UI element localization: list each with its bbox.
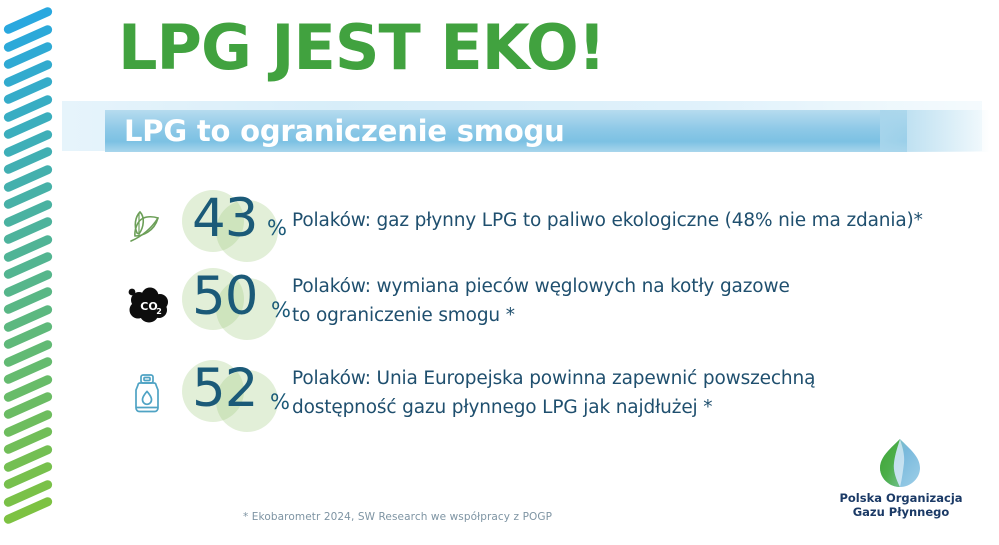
stat-unit: % — [270, 390, 290, 414]
decorative-stripe-column — [0, 0, 64, 545]
stat-description: Polaków: Unia Europejska powinna zapewni… — [292, 364, 999, 422]
subtitle-text: LPG to ograniczenie smogu — [124, 113, 565, 149]
stat-value: 43 — [192, 188, 257, 250]
svg-text:CO: CO — [140, 300, 157, 313]
organization-name-line2: Gazu Płynnego — [826, 506, 976, 520]
stat-unit: % — [271, 298, 291, 322]
stat-unit: % — [267, 216, 287, 240]
svg-text:2: 2 — [156, 307, 162, 316]
leaf-flame-logo-icon — [876, 437, 924, 489]
stat-description: Polaków: wymiana pieców węglowych na kot… — [292, 272, 999, 330]
page-title: LPG JEST EKO! — [118, 17, 605, 79]
gas-cylinder-icon — [118, 366, 176, 424]
stat-row: 52 % Polaków: Unia Europejska powinna za… — [110, 360, 970, 438]
stat-description-line1: Polaków: gaz płynny LPG to paliwo ekolog… — [292, 210, 923, 231]
stat-value: 52 — [192, 358, 257, 420]
subtitle-band-fade — [880, 110, 990, 152]
stat-row: CO 2 50 % Polaków: wymiana pieców węglow… — [110, 268, 970, 346]
stat-description-line1: Polaków: Unia Europejska powinna zapewni… — [292, 368, 815, 389]
stat-row: 43 % Polaków: gaz płynny LPG to paliwo e… — [110, 190, 970, 262]
stat-description: Polaków: gaz płynny LPG to paliwo ekolog… — [292, 206, 999, 235]
organization-logo: Polska Organizacja Gazu Płynnego — [826, 437, 976, 523]
co2-cloud-icon: CO 2 — [118, 276, 176, 334]
stat-value: 50 — [192, 266, 257, 328]
organization-name: Polska Organizacja Gazu Płynnego — [826, 492, 976, 519]
organization-name-line1: Polska Organizacja — [839, 491, 962, 505]
infographic-poster: LPG JEST EKO! LPG to ograniczenie smogu … — [0, 0, 999, 545]
stat-description-line2: to ograniczenie smogu * — [292, 301, 999, 330]
leaf-icon — [118, 196, 176, 254]
source-footnote: * Ekobarometr 2024, SW Research we współ… — [243, 511, 552, 523]
stat-description-line1: Polaków: wymiana pieców węglowych na kot… — [292, 276, 790, 297]
stat-description-line2: dostępność gazu płynnego LPG jak najdłuż… — [292, 393, 999, 422]
